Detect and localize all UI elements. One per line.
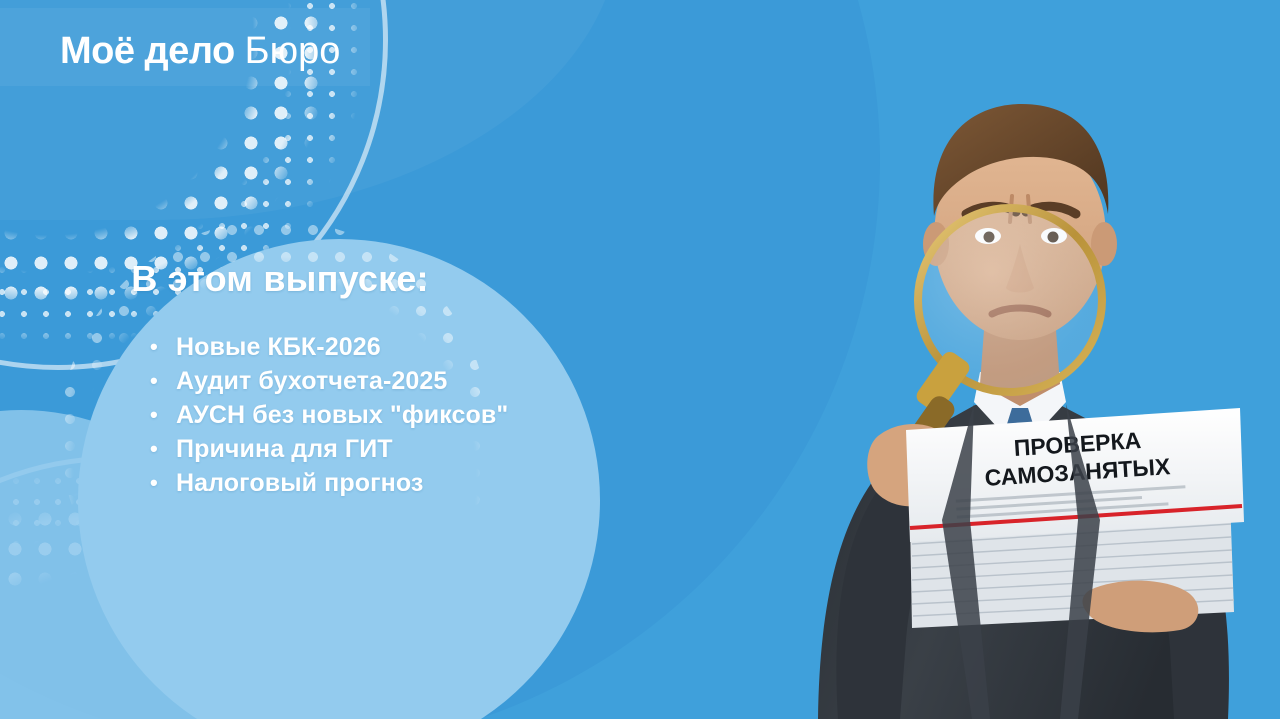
list-item-label: Причина для ГИТ [176,432,393,466]
list-item: • Аудит бухотчета-2025 [150,364,508,398]
list-item-label: Налоговый прогноз [176,466,423,500]
list-item: • Новые КБК-2026 [150,330,508,364]
page-title: В этом выпуске: [0,258,560,300]
bullet-marker-icon: • [150,466,176,500]
list-item: • АУСН без новых "фиксов" [150,398,508,432]
bullet-marker-icon: • [150,364,176,398]
list-item-label: Аудит бухотчета-2025 [176,364,447,398]
list-item-label: АУСН без новых "фиксов" [176,398,508,432]
list-item: • Налоговый прогноз [150,466,508,500]
slide-root: Моё дело Бюро В этом выпуске: • Новые КБ… [0,0,1280,719]
list-item: • Причина для ГИТ [150,432,508,466]
hero-photo-illustration: ПРОВЕРКА САМОЗАНЯТЫХ [760,0,1280,719]
bullet-marker-icon: • [150,330,176,364]
issue-contents-list: • Новые КБК-2026 • Аудит бухотчета-2025 … [150,330,508,500]
bullet-marker-icon: • [150,432,176,466]
content-area: В этом выпуске: • Новые КБК-2026 • Аудит… [0,0,620,719]
bullet-marker-icon: • [150,398,176,432]
hero-photo: ПРОВЕРКА САМОЗАНЯТЫХ [760,0,1280,719]
list-item-label: Новые КБК-2026 [176,330,381,364]
